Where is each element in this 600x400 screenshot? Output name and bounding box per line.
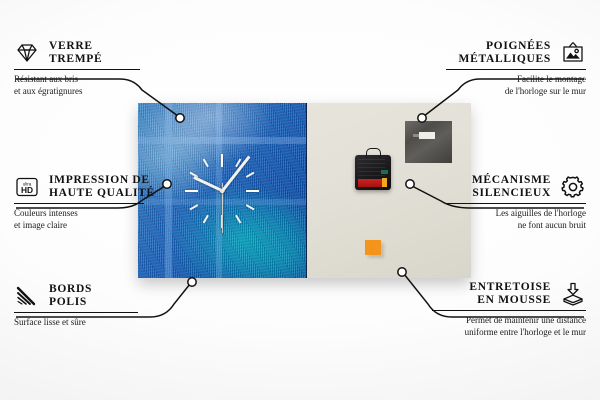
callout-title-line2: MÉTALLIQUES — [459, 53, 551, 65]
callout-title-line1: ENTRETOISE — [469, 281, 551, 293]
callout-title-line2: HAUTE QUALITÉ — [49, 187, 155, 199]
callout-title-line1: IMPRESSION DE — [49, 174, 150, 186]
callout-mecanisme-silencieux: MÉCANISME SILENCIEUX Les aiguilles de l'… — [446, 174, 586, 231]
divider — [446, 203, 586, 204]
product-image — [138, 103, 470, 278]
ultra-hd-badge-icon: ultra HD — [14, 174, 40, 200]
callout-title-line2: POLIS — [49, 296, 87, 308]
callout-title-line1: MÉCANISME — [472, 174, 551, 186]
divider — [432, 310, 586, 311]
foam-spacer — [365, 240, 381, 255]
callout-description: Couleurs intenses et image claire — [14, 208, 144, 231]
clock-center-pin — [220, 189, 224, 193]
infographic-canvas: VERRE TREMPÉ Résistant aux bris et aux é… — [0, 0, 600, 400]
callout-title-line2: EN MOUSSE — [477, 294, 551, 306]
arrow-down-onto-pad-icon — [560, 281, 586, 307]
callout-title-line1: BORDS — [49, 283, 92, 295]
diamond-icon — [14, 40, 40, 66]
clock-tick-marks — [138, 103, 306, 278]
divider — [14, 69, 140, 70]
gear-icon — [560, 174, 586, 200]
callout-description: Résistant aux bris et aux égratignures — [14, 74, 140, 97]
callout-verre-trempe: VERRE TREMPÉ Résistant aux bris et aux é… — [14, 40, 140, 97]
hour-hand — [193, 175, 225, 192]
clock-front-panel — [138, 103, 306, 278]
callout-description: Surface lisse et sûre — [14, 317, 138, 329]
clock-mechanism — [355, 155, 391, 190]
battery — [358, 179, 384, 187]
minute-hand — [220, 155, 250, 193]
metal-hanger-plate — [405, 121, 452, 163]
callout-title-line1: VERRE — [49, 40, 93, 52]
divider — [14, 203, 144, 204]
callout-title-line1: POIGNÉES — [486, 40, 551, 52]
polished-edges-icon — [14, 283, 40, 309]
callout-entretoise-en-mousse: ENTRETOISE EN MOUSSE Permet de maintenir… — [432, 281, 586, 338]
framed-picture-hanging-icon — [560, 40, 586, 66]
callout-description: Permet de maintenir une distance uniform… — [432, 315, 586, 338]
callout-description: Les aiguilles de l'horloge ne font aucun… — [446, 208, 586, 231]
hanger-loop — [366, 148, 381, 158]
callout-title-line2: SILENCIEUX — [472, 187, 551, 199]
clock-hands — [138, 103, 306, 278]
callout-poignees-metalliques: POIGNÉES MÉTALLIQUES Facilite le montage… — [446, 40, 586, 97]
callout-description: Facilite le montage de l'horloge sur le … — [446, 74, 586, 97]
divider — [14, 312, 138, 313]
callout-title-line2: TREMPÉ — [49, 53, 102, 65]
mechanism-vents — [358, 159, 385, 177]
callout-bords-polis: BORDS POLIS Surface lisse et sûre — [14, 283, 138, 329]
callout-impression-haute-qualite: ultra HD IMPRESSION DE HAUTE QUALITÉ Cou… — [14, 174, 144, 231]
divider — [446, 69, 586, 70]
mechanism-chip — [381, 170, 388, 174]
second-hand — [222, 183, 223, 233]
svg-text:HD: HD — [21, 185, 33, 195]
